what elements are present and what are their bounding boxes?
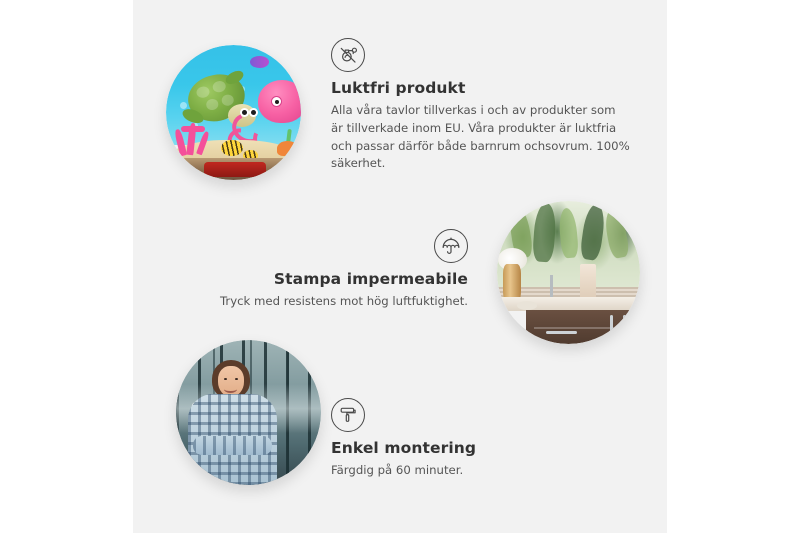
cabinet-handle: [623, 315, 626, 339]
feature-body: Färgdig på 60 minuter.: [331, 462, 621, 480]
drawer-handle: [546, 331, 577, 334]
purple-fish-icon: [250, 56, 269, 68]
painter-crossed-arms: [193, 436, 271, 455]
starfish-icon: [277, 141, 299, 156]
feature-waterproof: Stampa impermeabile Tryck med resistens …: [180, 229, 468, 311]
bubble-icon: [180, 102, 187, 109]
painter-smile: [224, 385, 237, 393]
yellow-fish-icon: [221, 140, 243, 156]
feature-body: Tryck med resistens mot hög luftfuktighe…: [180, 293, 468, 311]
cabinet-handle: [610, 315, 613, 339]
feature-title: Stampa impermeabile: [180, 270, 468, 288]
painter-forest-mural-photo: [176, 340, 321, 485]
feature-assembly: Enkel montering Färgdig på 60 minuter.: [331, 398, 621, 480]
soap-dish: [517, 301, 537, 310]
drawer-seam: [534, 327, 631, 329]
underwater-cartoon-photo: [166, 45, 301, 180]
coral-icon: [181, 126, 205, 132]
no-fragrance-bottle-icon: [331, 38, 365, 72]
paint-roller-icon: [331, 398, 365, 432]
feature-title: Enkel montering: [331, 439, 621, 457]
feature-body: Alla våra tavlor tillverkas i och av pro…: [331, 102, 631, 173]
bathroom-wallpaper-photo: [497, 201, 640, 344]
feature-title: Luktfri produkt: [331, 79, 631, 97]
painter-eye: [224, 378, 227, 380]
faucet-icon: [550, 275, 553, 296]
octopus-pupil: [275, 100, 279, 104]
umbrella-icon: [434, 229, 468, 263]
shipwreck-element: [204, 162, 266, 177]
product-feature-infographic: Luktfri produkt Alla våra tavlor tillver…: [0, 0, 800, 533]
feature-odourless: Luktfri produkt Alla våra tavlor tillver…: [331, 38, 631, 173]
